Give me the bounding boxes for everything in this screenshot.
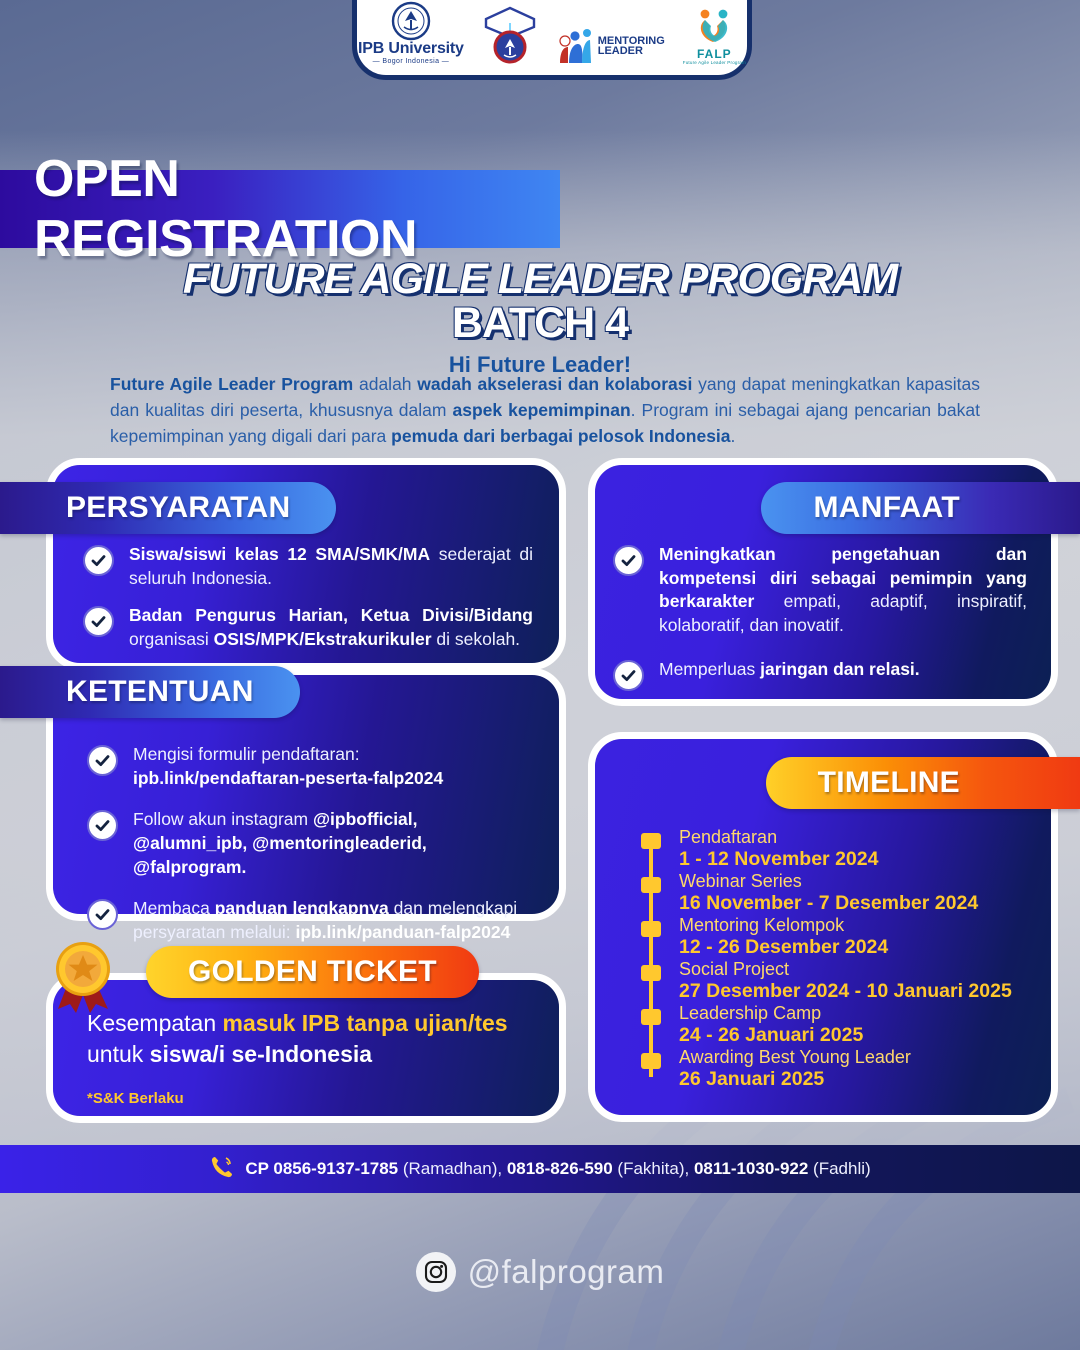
falp-logo: FALP Future Agile Leader Program xyxy=(683,8,746,65)
item-text: Mengisi formulir pendaftaran: xyxy=(133,744,360,764)
golden-ticket-line2: untuk siswa/i se-Indonesia xyxy=(87,1039,529,1070)
item-bold-2: OSIS/MPK/Ekstrakurikuler xyxy=(214,629,432,649)
item-bold: jaringan dan relasi. xyxy=(760,659,920,679)
item-text: Follow akun instagram xyxy=(133,809,313,829)
item-bold: panduan lengkapnya xyxy=(215,898,389,918)
timeline-item-name: Webinar Series xyxy=(679,871,978,892)
timeline-item-body: Webinar Series 16 November - 7 Desember … xyxy=(679,871,978,915)
timeline-item: Leadership Camp 24 - 26 Januari 2025 xyxy=(641,1003,1012,1047)
contact-number-1: 0856-9137-1785 xyxy=(273,1159,398,1178)
golden-ticket-body: Kesempatan masuk IPB tanpa ujian/tes unt… xyxy=(87,1008,529,1107)
list-item-text: Memperluas jaringan dan relasi. xyxy=(659,658,920,682)
timeline-item-date: 12 - 26 Desember 2024 xyxy=(679,936,888,959)
contact-name-1: (Ramadhan), xyxy=(398,1159,507,1178)
check-circle-icon xyxy=(87,899,118,930)
phone-icon xyxy=(209,1154,235,1185)
ketentuan-title: KETENTUAN xyxy=(66,675,254,709)
timeline-item-name: Social Project xyxy=(679,959,1012,980)
timeline-item-date: 16 November - 7 Desember 2024 xyxy=(679,892,978,915)
timeline-marker-icon xyxy=(641,921,661,937)
check-circle-icon xyxy=(83,606,114,637)
item-text: Memperluas xyxy=(659,659,760,679)
list-item: Badan Pengurus Harian, Ketua Divisi/Bida… xyxy=(83,604,533,651)
ipb-university-logo: IPB University — Bogor Indonesia — xyxy=(358,1,464,65)
timeline-item: Pendaftaran 1 - 12 November 2024 xyxy=(641,827,1012,871)
timeline-item-date: 27 Desember 2024 - 10 Januari 2025 xyxy=(679,980,1012,1003)
open-registration-banner: OPEN REGISTRATION xyxy=(0,170,560,248)
instagram-footer[interactable]: @falprogram xyxy=(0,1252,1080,1292)
intro-bold-3: aspek kepemimpinan xyxy=(452,400,630,420)
gt-text-2: untuk xyxy=(87,1041,150,1067)
leader-label: LEADER xyxy=(598,46,665,56)
timeline-item-name: Mentoring Kelompok xyxy=(679,915,888,936)
timeline-item: Social Project 27 Desember 2024 - 10 Jan… xyxy=(641,959,1012,1003)
list-item-text: Membaca panduan lengkapnya dan melengkap… xyxy=(133,897,519,944)
contact-bar: CP 0856-9137-1785 (Ramadhan), 0818-826-5… xyxy=(0,1145,1080,1193)
check-circle-icon xyxy=(613,545,644,576)
timeline-item-date: 26 Januari 2025 xyxy=(679,1068,911,1091)
partner-logos-panel: IPB University — Bogor Indonesia — MENTO… xyxy=(352,0,752,80)
item-text-2: di sekolah. xyxy=(432,629,521,649)
timeline-item: Mentoring Kelompok 12 - 26 Desember 2024 xyxy=(641,915,1012,959)
timeline-marker-icon xyxy=(641,877,661,893)
golden-ticket-ribbon: GOLDEN TICKET xyxy=(146,946,479,998)
golden-ticket-line1: Kesempatan masuk IPB tanpa ujian/tes xyxy=(87,1008,529,1039)
timeline-item-name: Awarding Best Young Leader xyxy=(679,1047,911,1068)
contact-number-3: 0811-1030-922 xyxy=(694,1159,808,1178)
cp-label: CP xyxy=(245,1159,273,1178)
check-circle-icon xyxy=(87,745,118,776)
list-item: Meningkatkan pengetahuan dan kompetensi … xyxy=(613,543,1027,638)
award-rosette-icon xyxy=(46,935,120,1020)
intro-text-4: . xyxy=(731,426,736,446)
timeline-marker-icon xyxy=(641,1009,661,1025)
persyaratan-list: Siswa/siswi kelas 12 SMA/SMK/MA sederaja… xyxy=(83,543,533,666)
timeline-item-name: Leadership Camp xyxy=(679,1003,863,1024)
falp-label: FALP xyxy=(697,48,732,60)
list-item-text: Siswa/siswi kelas 12 SMA/SMK/MA sederaja… xyxy=(129,543,533,590)
timeline-item-body: Pendaftaran 1 - 12 November 2024 xyxy=(679,827,878,871)
manfaat-list: Meningkatkan pengetahuan dan kompetensi … xyxy=(613,543,1027,705)
ipb-logo-sublabel: — Bogor Indonesia — xyxy=(373,58,449,65)
list-item-text: Meningkatkan pengetahuan dan kompetensi … xyxy=(659,543,1027,638)
persyaratan-title: PERSYARATAN xyxy=(66,491,290,525)
instagram-icon[interactable] xyxy=(416,1252,456,1292)
timeline-item-body: Social Project 27 Desember 2024 - 10 Jan… xyxy=(679,959,1012,1003)
list-item: Membaca panduan lengkapnya dan melengkap… xyxy=(87,897,519,944)
timeline-item-body: Mentoring Kelompok 12 - 26 Desember 2024 xyxy=(679,915,888,959)
persyaratan-ribbon: PERSYARATAN xyxy=(0,482,336,534)
program-batch: BATCH 4 xyxy=(0,302,1080,346)
intro-bold-1: Future Agile Leader Program xyxy=(110,374,353,394)
program-title-block: FUTURE AGILE LEADER PROGRAM BATCH 4 Hi F… xyxy=(0,258,1080,378)
gt-bold-2: siswa/i se-Indonesia xyxy=(150,1041,372,1067)
item-text: Membaca xyxy=(133,898,215,918)
manfaat-title: MANFAAT xyxy=(813,491,960,525)
timeline-item: Awarding Best Young Leader 26 Januari 20… xyxy=(641,1047,1012,1091)
instagram-handle[interactable]: @falprogram xyxy=(468,1253,665,1291)
golden-ticket-title: GOLDEN TICKET xyxy=(188,955,437,989)
golden-ticket-note: *S&K Berlaku xyxy=(87,1090,529,1107)
timeline-item-body: Awarding Best Young Leader 26 Januari 20… xyxy=(679,1047,911,1091)
list-item-text: Badan Pengurus Harian, Ketua Divisi/Bida… xyxy=(129,604,533,651)
mentoring-leader-logo: MENTORING LEADER xyxy=(556,27,665,65)
list-item: Siswa/siswi kelas 12 SMA/SMK/MA sederaja… xyxy=(83,543,533,590)
timeline-item-date: 24 - 26 Januari 2025 xyxy=(679,1024,863,1047)
item-bold: ipb.link/pendaftaran-peserta-falp2024 xyxy=(133,768,443,788)
intro-bold-2: wadah akselerasi dan kolaborasi xyxy=(417,374,692,394)
ipb-logo-label: IPB University xyxy=(358,41,464,57)
timeline-item-name: Pendaftaran xyxy=(679,827,878,848)
timeline-marker-icon xyxy=(641,965,661,981)
contact-text: CP 0856-9137-1785 (Ramadhan), 0818-826-5… xyxy=(245,1159,870,1179)
timeline-marker-icon xyxy=(641,833,661,849)
item-text: organisasi xyxy=(129,629,214,649)
list-item-text: Follow akun instagram @ipbofficial, @alu… xyxy=(133,808,519,879)
intro-paragraph: Future Agile Leader Program adalah wadah… xyxy=(110,372,980,450)
falp-people-icon xyxy=(693,8,735,48)
graduation-seal-icon xyxy=(482,5,538,65)
list-item: Mengisi formulir pendaftaran: ipb.link/p… xyxy=(87,743,519,790)
check-circle-icon xyxy=(613,660,644,691)
open-registration-label: OPEN REGISTRATION xyxy=(34,149,560,269)
manfaat-ribbon: MANFAAT xyxy=(761,482,1080,534)
ketentuan-list: Mengisi formulir pendaftaran: ipb.link/p… xyxy=(87,743,519,958)
list-item: Memperluas jaringan dan relasi. xyxy=(613,658,1027,691)
mentoring-people-icon xyxy=(556,27,594,65)
timeline-ribbon: TIMELINE xyxy=(766,757,1080,809)
item-bold: Siswa/siswi kelas 12 SMA/SMK/MA xyxy=(129,544,430,564)
intro-text-1: adalah xyxy=(353,374,417,394)
contact-number-2: 0818-826-590 xyxy=(507,1159,613,1178)
check-circle-icon xyxy=(83,545,114,576)
contact-name-2: (Fakhita), xyxy=(613,1159,694,1178)
intro-bold-4: pemuda dari berbagai pelosok Indonesia xyxy=(391,426,730,446)
list-item-text: Mengisi formulir pendaftaran: ipb.link/p… xyxy=(133,743,519,790)
list-item: Follow akun instagram @ipbofficial, @alu… xyxy=(87,808,519,879)
timeline-item-body: Leadership Camp 24 - 26 Januari 2025 xyxy=(679,1003,863,1047)
ipb-seal-logo xyxy=(482,5,538,65)
ketentuan-ribbon: KETENTUAN xyxy=(0,666,300,718)
item-bold: Badan Pengurus Harian, Ketua Divisi/Bida… xyxy=(129,605,533,625)
timeline-item-date: 1 - 12 November 2024 xyxy=(679,848,878,871)
ipb-crest-icon xyxy=(391,1,431,41)
timeline-marker-icon xyxy=(641,1053,661,1069)
item-bold-2: ipb.link/panduan-falp2024 xyxy=(295,922,510,942)
timeline-item: Webinar Series 16 November - 7 Desember … xyxy=(641,871,1012,915)
check-circle-icon xyxy=(87,810,118,841)
falp-sublabel: Future Agile Leader Program xyxy=(683,60,746,65)
gt-bold-1: masuk IPB tanpa ujian/tes xyxy=(223,1010,508,1036)
timeline-list: Pendaftaran 1 - 12 November 2024 Webinar… xyxy=(641,827,1012,1091)
contact-name-3: (Fadhli) xyxy=(808,1159,870,1178)
program-title: FUTURE AGILE LEADER PROGRAM xyxy=(0,258,1080,302)
timeline-title: TIMELINE xyxy=(818,766,960,800)
